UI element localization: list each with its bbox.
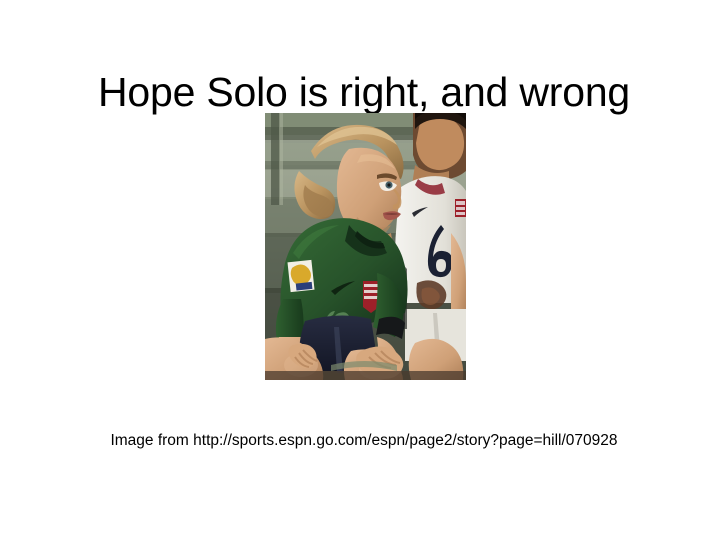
photo-illustration: [265, 113, 466, 380]
slide-photo: [265, 113, 466, 380]
image-source-caption: Image from http://sports.espn.go.com/esp…: [0, 431, 728, 451]
presentation-slide: Hope Solo is right, and wrong: [0, 0, 728, 546]
page-title: Hope Solo is right, and wrong: [0, 67, 728, 117]
